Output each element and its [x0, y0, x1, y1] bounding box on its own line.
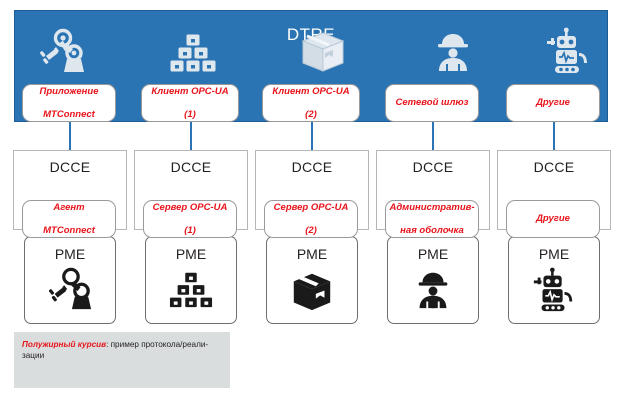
- pme-container: PME: [266, 236, 358, 324]
- mid-label-line2: MTConnect: [43, 225, 95, 237]
- mid-label-line1: Административ-: [389, 202, 474, 214]
- pme-label: PME: [25, 246, 115, 262]
- robot-arm-plug-icon: [34, 26, 90, 78]
- top-label-box[interactable]: Клиент OPC-UA (2): [262, 84, 360, 122]
- top-label-line2: (2): [272, 109, 349, 121]
- top-label-box[interactable]: Клиент OPC-UA (1): [141, 84, 239, 122]
- worker-helmet-icon: [388, 267, 478, 313]
- top-label-box[interactable]: Приложение MTConnect: [22, 84, 116, 122]
- mid-label-box[interactable]: Административ- ная оболочка: [385, 200, 479, 238]
- top-label-line1: Сетевой шлюз: [396, 97, 469, 109]
- pme-label: PME: [146, 246, 236, 262]
- dcce-label: DCCE: [256, 159, 368, 175]
- worker-helmet-icon: [425, 26, 481, 78]
- mid-label-line1: Сервер OPC-UA: [153, 202, 228, 214]
- dcce-label: DCCE: [135, 159, 247, 175]
- top-label-line2: (1): [151, 109, 228, 121]
- stacked-boxes-icon: [165, 26, 221, 78]
- mid-label-line1: Другие: [536, 213, 570, 225]
- robot-bot-icon: [509, 267, 599, 315]
- top-label-line2: MTConnect: [39, 109, 98, 121]
- dcce-label: DCCE: [14, 159, 126, 175]
- mid-label-box[interactable]: Агент MTConnect: [22, 200, 116, 238]
- pme-container: PME: [387, 236, 479, 324]
- top-label-box[interactable]: Сетевой шлюз: [385, 84, 479, 122]
- mid-label-line1: Агент: [43, 202, 95, 214]
- mid-label-box[interactable]: Сервер OPC-UA (2): [264, 200, 358, 238]
- top-label-box[interactable]: Другие: [506, 84, 600, 122]
- dcce-label: DCCE: [377, 159, 489, 175]
- robot-bot-icon: [540, 26, 596, 78]
- mid-label-line2: (2): [274, 225, 349, 237]
- pme-container: PME: [508, 236, 600, 324]
- pme-label: PME: [388, 246, 478, 262]
- pme-container: PME: [24, 236, 116, 324]
- mid-label-line2: ная оболочка: [389, 225, 474, 237]
- top-label-line1: Другие: [536, 97, 570, 109]
- top-label-line1: Клиент OPC-UA: [151, 86, 228, 98]
- legend-emphasis: Полужирный курсив: [22, 340, 106, 349]
- top-label-line1: Приложение: [39, 86, 98, 98]
- stacked-boxes-icon: [146, 267, 236, 311]
- pme-label: PME: [509, 246, 599, 262]
- mid-label-line2: (1): [153, 225, 228, 237]
- open-carton-box-icon: [295, 26, 351, 78]
- dcce-label: DCCE: [498, 159, 610, 175]
- top-label-line1: Клиент OPC-UA: [272, 86, 349, 98]
- pme-label: PME: [267, 246, 357, 262]
- pme-container: PME: [145, 236, 237, 324]
- open-carton-box-icon: [267, 267, 357, 315]
- mid-label-line1: Сервер OPC-UA: [274, 202, 349, 214]
- legend-text: Полужирный курсив: пример протокола/реал…: [22, 339, 224, 361]
- mid-label-box[interactable]: Сервер OPC-UA (1): [143, 200, 237, 238]
- legend-box: Полужирный курсив: пример протокола/реал…: [14, 332, 230, 388]
- robot-arm-plug-icon: [25, 267, 115, 313]
- diagram-canvas: DTRE: [0, 0, 622, 400]
- mid-label-box[interactable]: Другие: [506, 200, 600, 238]
